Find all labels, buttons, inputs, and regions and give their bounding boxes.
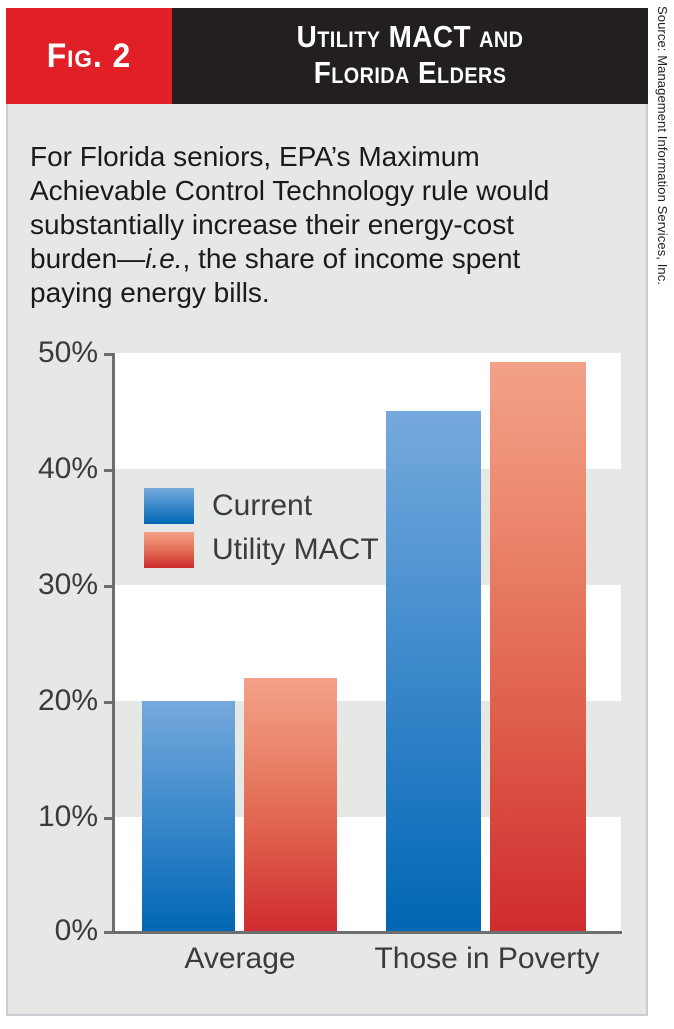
figure-title-line-1: Utility MACT and xyxy=(297,19,524,55)
figure-header: Fig. 2 Utility MACT and Florida Elders xyxy=(6,8,648,104)
y-tick-30 xyxy=(104,585,113,588)
chart-legend: Current Utility MACT xyxy=(144,486,379,574)
x-axis-label-average: Average xyxy=(184,942,295,976)
y-axis-label-50: 50% xyxy=(12,336,98,370)
bar-current-average xyxy=(142,701,235,933)
y-axis-label-40: 40% xyxy=(12,452,98,486)
x-axis-line xyxy=(112,931,622,934)
y-tick-40 xyxy=(104,469,113,472)
figure-title-line-2: Florida Elders xyxy=(314,55,507,91)
y-axis-label-30: 30% xyxy=(12,568,98,602)
x-axis-label-those-in-poverty: Those in Poverty xyxy=(374,942,599,976)
figure-number-label: Fig. 2 xyxy=(47,37,132,76)
y-axis-label-10: 10% xyxy=(12,800,98,834)
y-axis-label-0: 0% xyxy=(12,914,98,948)
figure-number-badge: Fig. 2 xyxy=(6,8,172,104)
source-attribution: Source: Management Information Services,… xyxy=(655,6,670,286)
y-tick-50 xyxy=(104,353,113,356)
legend-item-utility-mact: Utility MACT xyxy=(144,530,379,570)
y-tick-0 xyxy=(104,931,113,934)
bar-current-poverty xyxy=(386,411,481,933)
bar-utility-mact-average xyxy=(244,678,337,933)
figure-container: Fig. 2 Utility MACT and Florida Elders S… xyxy=(0,0,674,1029)
legend-item-current: Current xyxy=(144,486,379,526)
legend-swatch-current xyxy=(144,488,194,524)
y-axis-label-20: 20% xyxy=(12,684,98,718)
bar-chart: 50% 40% 30% 20% 10% 0% Average Those in … xyxy=(6,330,648,1016)
description-text-italic: i.e. xyxy=(145,243,182,274)
plot-area xyxy=(115,353,621,933)
legend-label-current: Current xyxy=(212,489,312,523)
bar-utility-mact-poverty xyxy=(490,362,586,933)
figure-description: For Florida seniors, EPA’s Maximum Achie… xyxy=(30,140,590,310)
legend-label-utility-mact: Utility MACT xyxy=(212,533,379,567)
y-axis-line xyxy=(112,353,115,934)
y-tick-10 xyxy=(104,817,113,820)
legend-swatch-utility-mact xyxy=(144,532,194,568)
y-tick-20 xyxy=(104,701,113,704)
figure-title-block: Utility MACT and Florida Elders xyxy=(172,8,648,104)
